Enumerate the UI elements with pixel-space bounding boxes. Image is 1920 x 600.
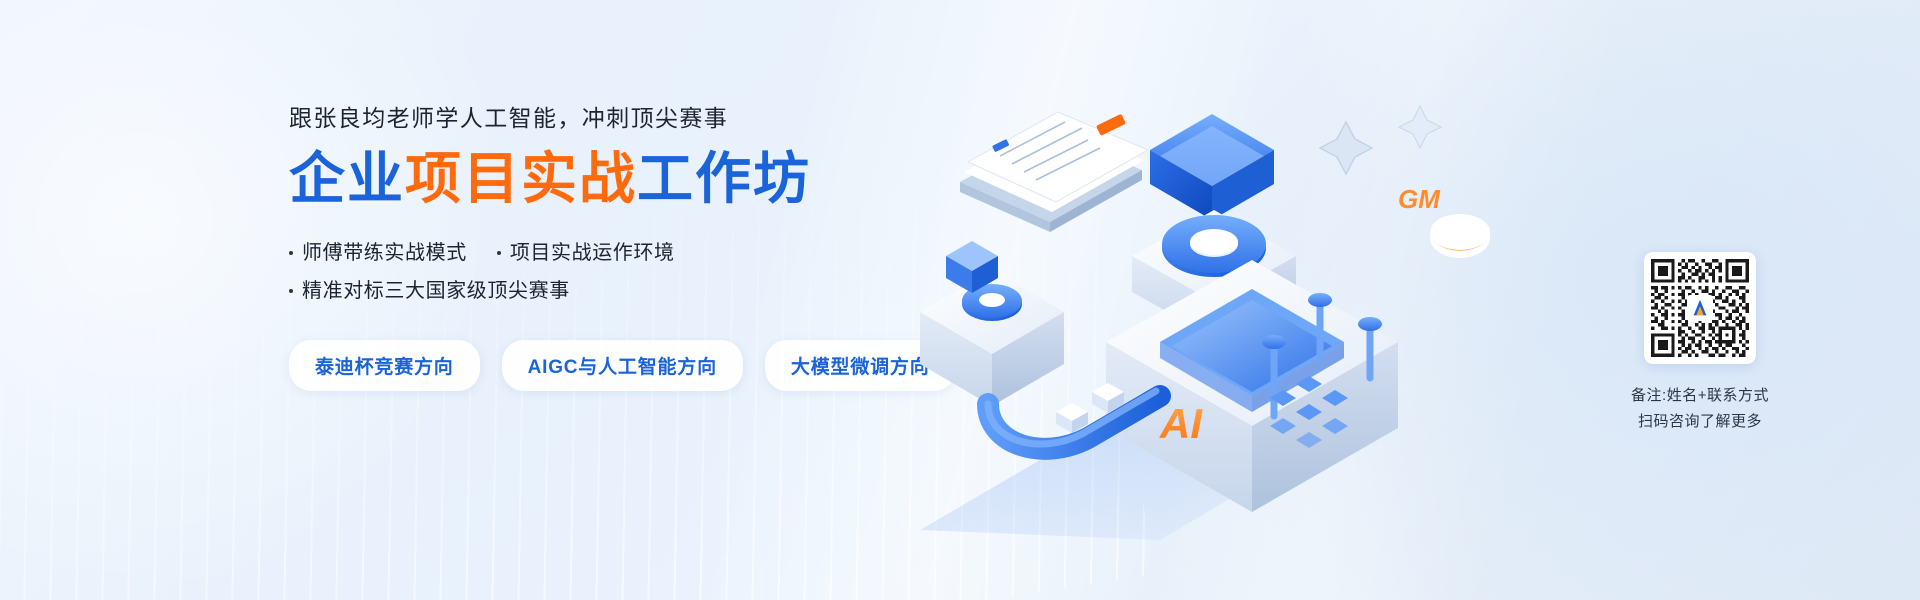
ai-label-icon: AI bbox=[1159, 400, 1203, 447]
feature-label: 精准对标三大国家级顶尖赛事 bbox=[302, 276, 570, 307]
feature-item: 精准对标三大国家级顶尖赛事 bbox=[289, 276, 570, 307]
svg-text:GM: GM bbox=[1398, 184, 1441, 214]
bullet-dot-icon bbox=[289, 251, 293, 255]
white-cloud-icon bbox=[1430, 214, 1490, 258]
promo-banner: 跟张良均老师学人工智能，冲刺顶尖赛事 企业项目实战工作坊 师傅带练实战模式 项目… bbox=[0, 0, 1920, 600]
orange-glyph-icon: GM bbox=[1398, 184, 1441, 214]
qr-caption-line-2: 扫码咨询了解更多 bbox=[1631, 409, 1769, 435]
open-blue-cube-icon bbox=[1150, 114, 1274, 220]
ai-label-text: AI bbox=[1159, 400, 1203, 447]
headline-segment-2: 项目实战 bbox=[405, 147, 637, 210]
qr-caption: 备注:姓名+联系方式 扫码咨询了解更多 bbox=[1631, 383, 1769, 436]
headline-segment-1: 企业 bbox=[289, 147, 405, 210]
feature-item: 师傅带练实战模式 bbox=[289, 238, 467, 269]
feature-label: 师傅带练实战模式 bbox=[302, 238, 467, 269]
feature-item: 项目实战运作环境 bbox=[497, 238, 675, 269]
isometric-illustration: AI GM bbox=[860, 60, 1600, 540]
bullet-dot-icon bbox=[497, 251, 501, 255]
four-point-sparkle-icon bbox=[1320, 122, 1372, 174]
qr-block: 备注:姓名+联系方式 扫码咨询了解更多 bbox=[1615, 252, 1785, 436]
qr-caption-line-1: 备注:姓名+联系方式 bbox=[1631, 383, 1769, 409]
qr-code[interactable] bbox=[1644, 252, 1756, 364]
tipdm-triangle-logo-icon bbox=[1687, 295, 1713, 321]
tag-taidi-competition[interactable]: 泰迪杯竞赛方向 bbox=[289, 340, 480, 391]
headline-segment-3: 工作坊 bbox=[637, 147, 811, 210]
tag-aigc-ai[interactable]: AIGC与人工智能方向 bbox=[502, 340, 743, 391]
stacked-paper-documents-icon bbox=[960, 112, 1148, 232]
bullet-dot-icon bbox=[289, 289, 293, 293]
four-point-sparkle-icon bbox=[1399, 106, 1441, 148]
feature-label: 项目实战运作环境 bbox=[510, 238, 675, 269]
